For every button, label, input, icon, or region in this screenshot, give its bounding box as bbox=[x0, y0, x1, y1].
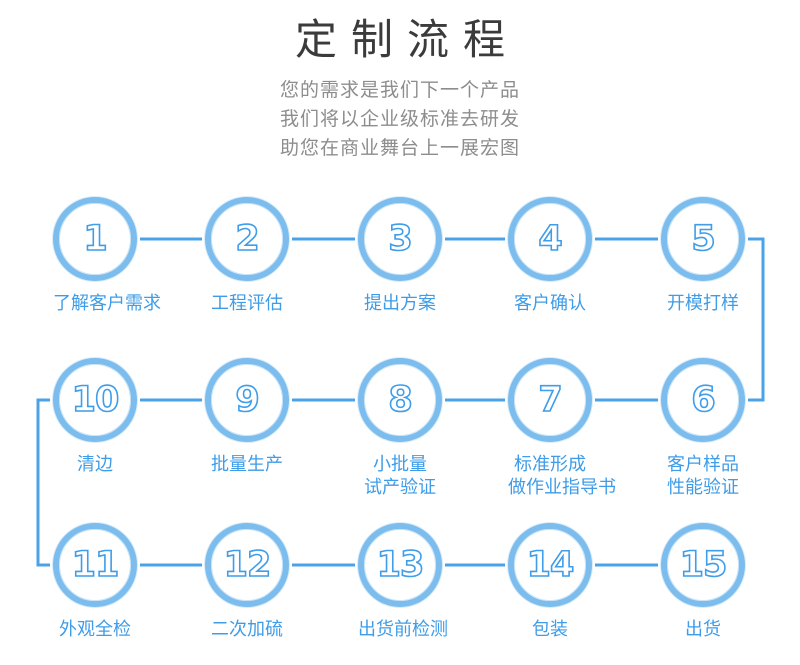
step-label-3-line1: 提出方案 bbox=[364, 293, 436, 313]
process-step-9[interactable]: 9 批量生产 bbox=[205, 358, 289, 476]
step-circle-8[interactable]: 8 bbox=[358, 358, 442, 442]
step-label-11-line1: 外观全检 bbox=[59, 619, 131, 639]
process-step-5[interactable]: 5 开模打样 bbox=[661, 197, 745, 315]
page-header: 定制流程 您的需求是我们下一个产品 我们将以企业级标准去研发 助您在商业舞台上一… bbox=[0, 0, 800, 163]
process-step-11[interactable]: 11 外观全检 bbox=[53, 523, 137, 641]
step-circle-6[interactable]: 6 bbox=[661, 358, 745, 442]
step-circle-4[interactable]: 4 bbox=[508, 197, 592, 281]
step-label-7: 标准形成 做作业指导书 bbox=[508, 453, 592, 499]
step-label-12-line1: 二次加硫 bbox=[211, 619, 283, 639]
step-label-11: 外观全检 bbox=[53, 618, 137, 641]
step-label-13-line1: 出货前检测 bbox=[358, 619, 448, 639]
step-label-8-line1: 小批量 bbox=[373, 454, 427, 474]
step-number-10: 10 bbox=[72, 383, 119, 418]
process-step-2[interactable]: 2 工程评估 bbox=[205, 197, 289, 315]
step-label-7-line1: 标准形成 bbox=[514, 454, 586, 474]
connector-10-11 bbox=[38, 400, 50, 565]
process-step-13[interactable]: 13 出货前检测 bbox=[358, 523, 442, 641]
customization-process-page: 定制流程 您的需求是我们下一个产品 我们将以企业级标准去研发 助您在商业舞台上一… bbox=[0, 0, 800, 665]
step-label-4-line1: 客户确认 bbox=[514, 293, 586, 313]
step-number-3: 3 bbox=[388, 222, 411, 257]
subtitle-line-1: 您的需求是我们下一个产品 bbox=[0, 76, 800, 105]
step-label-1-line1: 了解客户需求 bbox=[53, 293, 161, 313]
step-label-14: 包装 bbox=[508, 618, 592, 641]
step-number-14: 14 bbox=[527, 548, 574, 583]
subtitle-block: 您的需求是我们下一个产品 我们将以企业级标准去研发 助您在商业舞台上一展宏图 bbox=[0, 76, 800, 163]
step-number-4: 4 bbox=[538, 222, 561, 257]
step-number-5: 5 bbox=[691, 222, 714, 257]
step-number-1: 1 bbox=[83, 222, 106, 257]
step-label-8: 小批量 试产验证 bbox=[358, 453, 442, 499]
step-label-10-line1: 清边 bbox=[77, 454, 113, 474]
process-step-8[interactable]: 8 小批量 试产验证 bbox=[358, 358, 442, 499]
process-step-7[interactable]: 7 标准形成 做作业指导书 bbox=[508, 358, 592, 499]
step-number-7: 7 bbox=[538, 383, 561, 418]
step-circle-15[interactable]: 15 bbox=[661, 523, 745, 607]
step-label-4: 客户确认 bbox=[508, 292, 592, 315]
process-step-6[interactable]: 6 客户样品 性能验证 bbox=[661, 358, 745, 499]
step-circle-11[interactable]: 11 bbox=[53, 523, 137, 607]
step-circle-9[interactable]: 9 bbox=[205, 358, 289, 442]
step-label-15-line1: 出货 bbox=[685, 619, 721, 639]
process-flow-diagram: 1 了解客户需求 2 工程评估 3 提出方案 4 bbox=[0, 186, 800, 665]
process-step-1[interactable]: 1 了解客户需求 bbox=[53, 197, 137, 315]
step-label-7-line2: 做作业指导书 bbox=[508, 476, 592, 499]
process-step-14[interactable]: 14 包装 bbox=[508, 523, 592, 641]
step-number-9: 9 bbox=[235, 383, 258, 418]
step-label-6: 客户样品 性能验证 bbox=[661, 453, 745, 499]
step-label-6-line2: 性能验证 bbox=[661, 476, 745, 499]
step-number-15: 15 bbox=[680, 548, 727, 583]
process-step-4[interactable]: 4 客户确认 bbox=[508, 197, 592, 315]
step-circle-10[interactable]: 10 bbox=[53, 358, 137, 442]
step-circle-12[interactable]: 12 bbox=[205, 523, 289, 607]
step-label-10: 清边 bbox=[53, 453, 137, 476]
process-step-3[interactable]: 3 提出方案 bbox=[358, 197, 442, 315]
process-step-15[interactable]: 15 出货 bbox=[661, 523, 745, 641]
connector-5-6 bbox=[748, 239, 763, 400]
step-number-6: 6 bbox=[691, 383, 714, 418]
step-number-2: 2 bbox=[235, 222, 258, 257]
page-title: 定制流程 bbox=[0, 12, 800, 68]
step-label-5-line1: 开模打样 bbox=[667, 293, 739, 313]
step-label-3: 提出方案 bbox=[358, 292, 442, 315]
step-label-15: 出货 bbox=[661, 618, 745, 641]
step-label-9: 批量生产 bbox=[205, 453, 289, 476]
step-circle-1[interactable]: 1 bbox=[53, 197, 137, 281]
step-number-11: 11 bbox=[72, 548, 119, 583]
step-label-2: 工程评估 bbox=[205, 292, 289, 315]
step-circle-3[interactable]: 3 bbox=[358, 197, 442, 281]
step-label-8-line2: 试产验证 bbox=[358, 476, 442, 499]
step-circle-5[interactable]: 5 bbox=[661, 197, 745, 281]
subtitle-line-2: 我们将以企业级标准去研发 bbox=[0, 105, 800, 134]
step-label-13: 出货前检测 bbox=[358, 618, 442, 641]
step-label-6-line1: 客户样品 bbox=[667, 454, 739, 474]
step-circle-2[interactable]: 2 bbox=[205, 197, 289, 281]
step-number-13: 13 bbox=[377, 548, 424, 583]
process-step-12[interactable]: 12 二次加硫 bbox=[205, 523, 289, 641]
step-circle-7[interactable]: 7 bbox=[508, 358, 592, 442]
subtitle-line-3: 助您在商业舞台上一展宏图 bbox=[0, 134, 800, 163]
step-label-2-line1: 工程评估 bbox=[211, 293, 283, 313]
step-label-9-line1: 批量生产 bbox=[211, 454, 283, 474]
step-label-1: 了解客户需求 bbox=[53, 292, 137, 315]
step-label-14-line1: 包装 bbox=[532, 619, 568, 639]
step-number-12: 12 bbox=[224, 548, 271, 583]
step-circle-14[interactable]: 14 bbox=[508, 523, 592, 607]
process-step-10[interactable]: 10 清边 bbox=[53, 358, 137, 476]
step-label-5: 开模打样 bbox=[661, 292, 745, 315]
step-circle-13[interactable]: 13 bbox=[358, 523, 442, 607]
step-number-8: 8 bbox=[388, 383, 411, 418]
step-label-12: 二次加硫 bbox=[205, 618, 289, 641]
